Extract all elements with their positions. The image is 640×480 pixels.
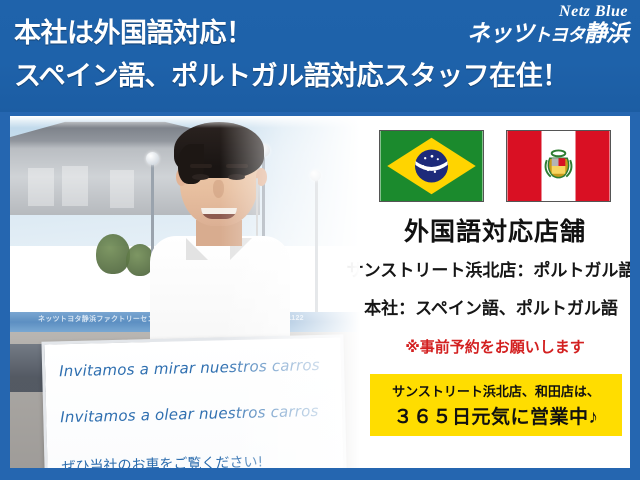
info-panel: 外国語対応店舗 サンストリート浜北店：ポルトガル語 本社：スペイン語、ポルトガル… [360,116,630,468]
staff-nose [213,180,224,198]
open-365-banner: サンストリート浜北店、和田店は、 ３６５日元気に営業中♪ [370,374,622,436]
whiteboard-spanish-line-2: Invitamos a olear nuestros carros [60,402,319,426]
photo-top-fade [10,116,360,128]
brazil-flag-icon [379,130,484,202]
store-language-line-1: サンストリート浜北店：ポルトガル語 [346,256,630,281]
staff-eyebrow-right [226,164,248,168]
logo-toyota: トヨタ [533,25,584,45]
store-language-line-2: 本社：スペイン語、ポルトガル語 [346,294,630,319]
content-frame: ネッツトヨタ静浜ファクトリーセンター ☎0548)34-1122 [0,112,640,480]
earphone-cord [256,178,258,236]
tree [96,234,130,274]
logo-netz: ネッツ [467,20,533,46]
banner-line-2: ３６５日元気に営業中♪ [393,402,598,429]
lamp-post [315,176,318,312]
advertisement-banner: 本社は外国語対応！ スペイン語、ポルトガル語対応スタッフ在住！ Netz Blu… [0,0,640,480]
reservation-note: ※事前予約をお願いします [360,336,630,357]
staff-eyebrow-left [190,164,212,168]
logo-shizuhama: 静浜 [584,20,628,46]
content-canvas: ネッツトヨタ静浜ファクトリーセンター ☎0548)34-1122 [10,116,630,468]
whiteboard-japanese-line-1: ぜひ当社のお車をご覧ください! [61,451,263,468]
whiteboard-sign: Invitamos a mirar nuestros carros Invita… [41,334,348,468]
headline-block: 本社は外国語対応！ スペイン語、ポルトガル語対応スタッフ在住！ [14,16,484,93]
staff-eye-left [192,174,209,180]
header-bar: 本社は外国語対応！ スペイン語、ポルトガル語対応スタッフ在住！ Netz Blu… [0,0,640,112]
building-window [62,166,88,206]
brand-logo-japanese: ネッツトヨタ静浜 [467,22,628,45]
headline-line-2: スペイン語、ポルトガル語対応スタッフ在住！ [14,59,484,93]
banner-line-1: サンストリート浜北店、和田店は、 [392,381,600,400]
brand-logo: Netz Blue ネッツトヨタ静浜 [467,4,628,45]
building-window [28,168,54,206]
brand-logo-english: Netz Blue [467,4,628,20]
staff-hair [174,122,264,178]
building-window [110,170,134,208]
panel-title: 外国語対応店舗 [360,212,630,248]
photo-scene: ネッツトヨタ静浜ファクトリーセンター ☎0548)34-1122 [10,116,360,468]
staff-teeth [201,208,237,214]
lamp-head [146,152,159,165]
staff-eye-right [228,174,245,180]
headline-line-1: 本社は外国語対応！ [14,16,484,50]
whiteboard-spanish-line-1: Invitamos a mirar nuestros carros [59,356,320,380]
peru-flag-icon [506,130,611,202]
staff-mouth [201,208,237,219]
flag-row [370,130,620,204]
staff-photo: ネッツトヨタ静浜ファクトリーセンター ☎0548)34-1122 [10,116,360,468]
lamp-head [310,170,321,181]
